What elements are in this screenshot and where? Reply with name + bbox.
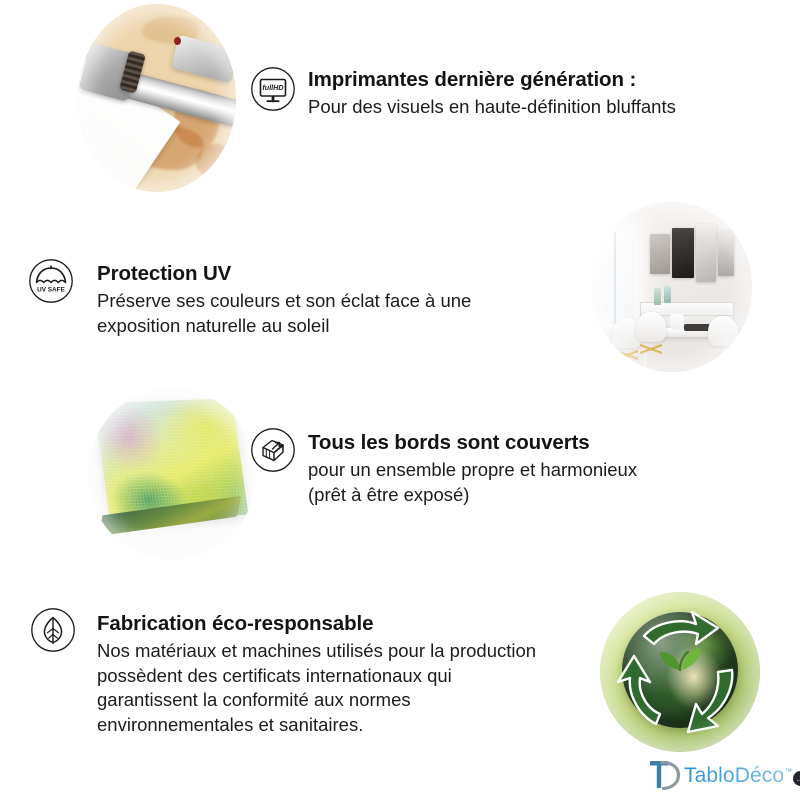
feature-body-line: Pour des visuels en haute-définition blu… bbox=[308, 95, 728, 120]
feature-text-print-quality: Imprimantes dernière génération : Pour d… bbox=[308, 68, 728, 120]
feature-body-line: possèdent des certificats internationaux… bbox=[97, 664, 597, 689]
feature-body-uv-protection: Préserve ses couleurs et son éclat face … bbox=[97, 289, 567, 338]
feature-body-print-quality: Pour des visuels en haute-définition blu… bbox=[308, 95, 728, 120]
feature-body-line: Nos matériaux et machines utilisés pour … bbox=[97, 639, 597, 664]
feature-text-uv-protection: Protection UV Préserve ses couleurs et s… bbox=[97, 262, 567, 338]
feature-body-line: environnementales et sanitaires. bbox=[97, 713, 597, 738]
feature-body-line: garantissent la conformité aux normes bbox=[97, 688, 597, 713]
feature-text-covered-edges: Tous les bords sont couverts pour un ens… bbox=[308, 431, 728, 507]
eco-leaf-icon bbox=[30, 607, 76, 653]
tablodeco-monogram-icon bbox=[648, 757, 680, 796]
infographic-page: fullHD Imprimantes dernière génération :… bbox=[0, 0, 800, 800]
feature-body-line: pour un ensemble propre et harmonieux bbox=[308, 458, 728, 483]
canvas-wrapped-edges-icon bbox=[250, 427, 296, 473]
tablodeco-logo[interactable]: TabloDéco™.fr bbox=[648, 757, 796, 795]
feature-text-eco-manufacturing: Fabrication éco-responsable Nos matériau… bbox=[97, 612, 597, 738]
fullhd-monitor-icon: fullHD bbox=[250, 66, 296, 112]
feature-body-covered-edges: pour un ensemble propre et harmonieux (p… bbox=[308, 458, 728, 507]
uv-safe-umbrella-icon: UV SAFE bbox=[28, 258, 74, 304]
feature-title-print-quality: Imprimantes dernière génération : bbox=[308, 68, 728, 92]
printer-roller-world-map-photo bbox=[78, 4, 236, 192]
feature-body-line: (prêt à être exposé) bbox=[308, 483, 728, 508]
trademark-symbol: ™ bbox=[784, 767, 792, 776]
green-earth-recycling-photo bbox=[600, 592, 760, 752]
feature-title-eco-manufacturing: Fabrication éco-responsable bbox=[97, 612, 597, 636]
feature-title-uv-protection: Protection UV bbox=[97, 262, 567, 286]
svg-text:fullHD: fullHD bbox=[262, 83, 283, 92]
feature-body-line: Préserve ses couleurs et son éclat face … bbox=[97, 289, 567, 314]
tablodeco-wordmark: TabloDéco™.fr bbox=[684, 764, 800, 788]
svg-text:UV SAFE: UV SAFE bbox=[37, 287, 65, 294]
feature-body-eco-manufacturing: Nos matériaux et machines utilisés pour … bbox=[97, 639, 597, 737]
feature-body-line: exposition naturelle au soleil bbox=[97, 314, 567, 339]
feature-title-covered-edges: Tous les bords sont couverts bbox=[308, 431, 728, 455]
colorful-canvas-corner-photo bbox=[88, 388, 256, 560]
tablodeco-wordmark-text: TabloDéco bbox=[684, 764, 784, 787]
bright-dining-room-wall-art-photo bbox=[592, 202, 752, 372]
domain-badge: .fr bbox=[793, 771, 800, 786]
